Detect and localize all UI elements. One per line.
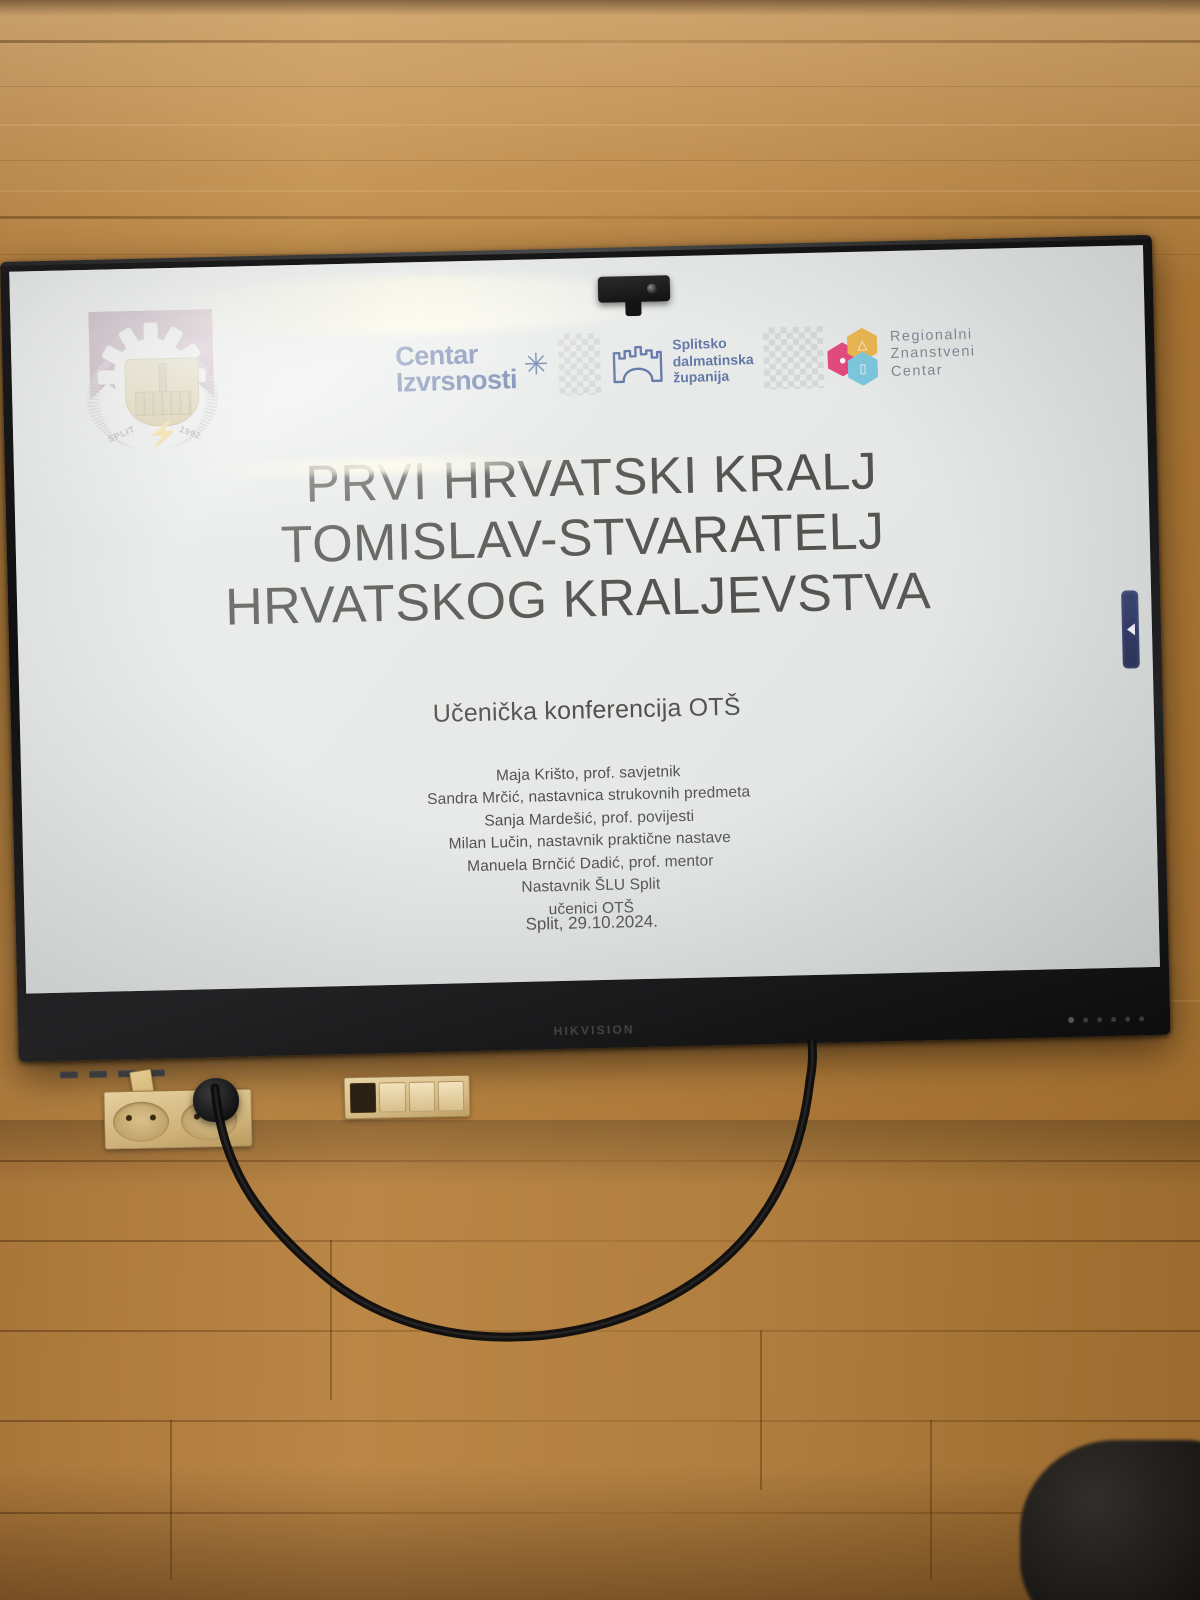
indicator-dot-icon	[1139, 1016, 1144, 1021]
indicator-dot-icon	[1097, 1017, 1102, 1022]
zupanija-logo: Splitsko dalmatinska županija	[600, 334, 764, 388]
bell-tower-icon	[158, 363, 167, 393]
bezel-indicator-row	[1068, 1015, 1144, 1023]
asterisk-star-icon: ✳	[523, 350, 549, 381]
hdmi-port[interactable]	[89, 1070, 107, 1077]
indicator-dot-icon	[1125, 1016, 1130, 1021]
school-crest-logo: SPLIT 1992 ⚡	[84, 307, 219, 452]
ce-line2: Izvrsnosti	[396, 366, 518, 396]
ceiling-shadow	[0, 0, 1200, 16]
rzc-line3: Centar	[891, 361, 976, 381]
presentation-slide: SPLIT 1992 ⚡ Centar Izvrsnosti ✳	[9, 245, 1160, 994]
interactive-display[interactable]: HIKVISION	[0, 235, 1171, 1062]
light-switch[interactable]	[408, 1081, 435, 1112]
palace-icon	[135, 391, 192, 416]
wall-grain	[0, 190, 1200, 192]
light-switch[interactable]	[437, 1081, 464, 1112]
power-plug[interactable]	[193, 1078, 239, 1122]
castle-icon	[610, 341, 665, 385]
regionalni-znanstveni-centar-logo: ● △ ▯ Regionalni Znanstveni Centar	[823, 324, 977, 384]
light-switch[interactable]	[379, 1082, 406, 1113]
power-led-icon	[1068, 1017, 1074, 1023]
power-socket[interactable]	[113, 1101, 170, 1142]
rzc-line2: Znanstveni	[890, 344, 975, 364]
zup-line2: dalmatinska	[672, 351, 753, 370]
wall-grain	[0, 160, 1200, 161]
display-screen[interactable]: SPLIT 1992 ⚡ Centar Izvrsnosti ✳	[9, 245, 1160, 994]
cogwheel-icon	[103, 327, 201, 425]
checker-divider	[558, 333, 602, 396]
sidebar-toggle-tab[interactable]	[1121, 590, 1140, 668]
room-scene: HIKVISION	[0, 0, 1200, 1600]
light-switch-plate[interactable]	[344, 1075, 471, 1120]
slide-logo-row: SPLIT 1992 ⚡ Centar Izvrsnosti ✳	[10, 285, 1147, 438]
checker-divider	[763, 326, 825, 390]
wall-plank-seam	[0, 40, 1200, 43]
display-brand-label: HIKVISION	[554, 1022, 635, 1038]
wall-grain	[0, 86, 1200, 87]
chevron-right-icon	[1126, 623, 1134, 635]
centar-izvrsnosti-logo: Centar Izvrsnosti ✳	[391, 334, 560, 400]
lightning-bolt-icon: ⚡	[147, 420, 180, 447]
zup-line3: županija	[673, 367, 754, 386]
shield-icon	[124, 357, 200, 427]
camera-lens-icon	[647, 283, 657, 293]
indicator-dot-icon	[1111, 1016, 1116, 1021]
webcam	[598, 275, 671, 303]
usb-port[interactable]	[60, 1071, 78, 1078]
rzc-hex-icon-group: ● △ ▯	[827, 327, 885, 385]
camera-mount	[625, 300, 641, 316]
light-switch[interactable]	[350, 1083, 377, 1114]
partner-logo-strip: Centar Izvrsnosti ✳ Splitsko	[390, 308, 1040, 413]
ir-sensor-icon	[1083, 1017, 1088, 1022]
wall-plank-seam	[0, 216, 1200, 219]
slide-title: PRVI HRVATSKI KRALJ TOMISLAV-STVARATELJ …	[14, 435, 1152, 643]
wall-grain	[0, 124, 1200, 126]
slide-subtitle: Učenička konferencija OTŠ	[20, 683, 1154, 739]
